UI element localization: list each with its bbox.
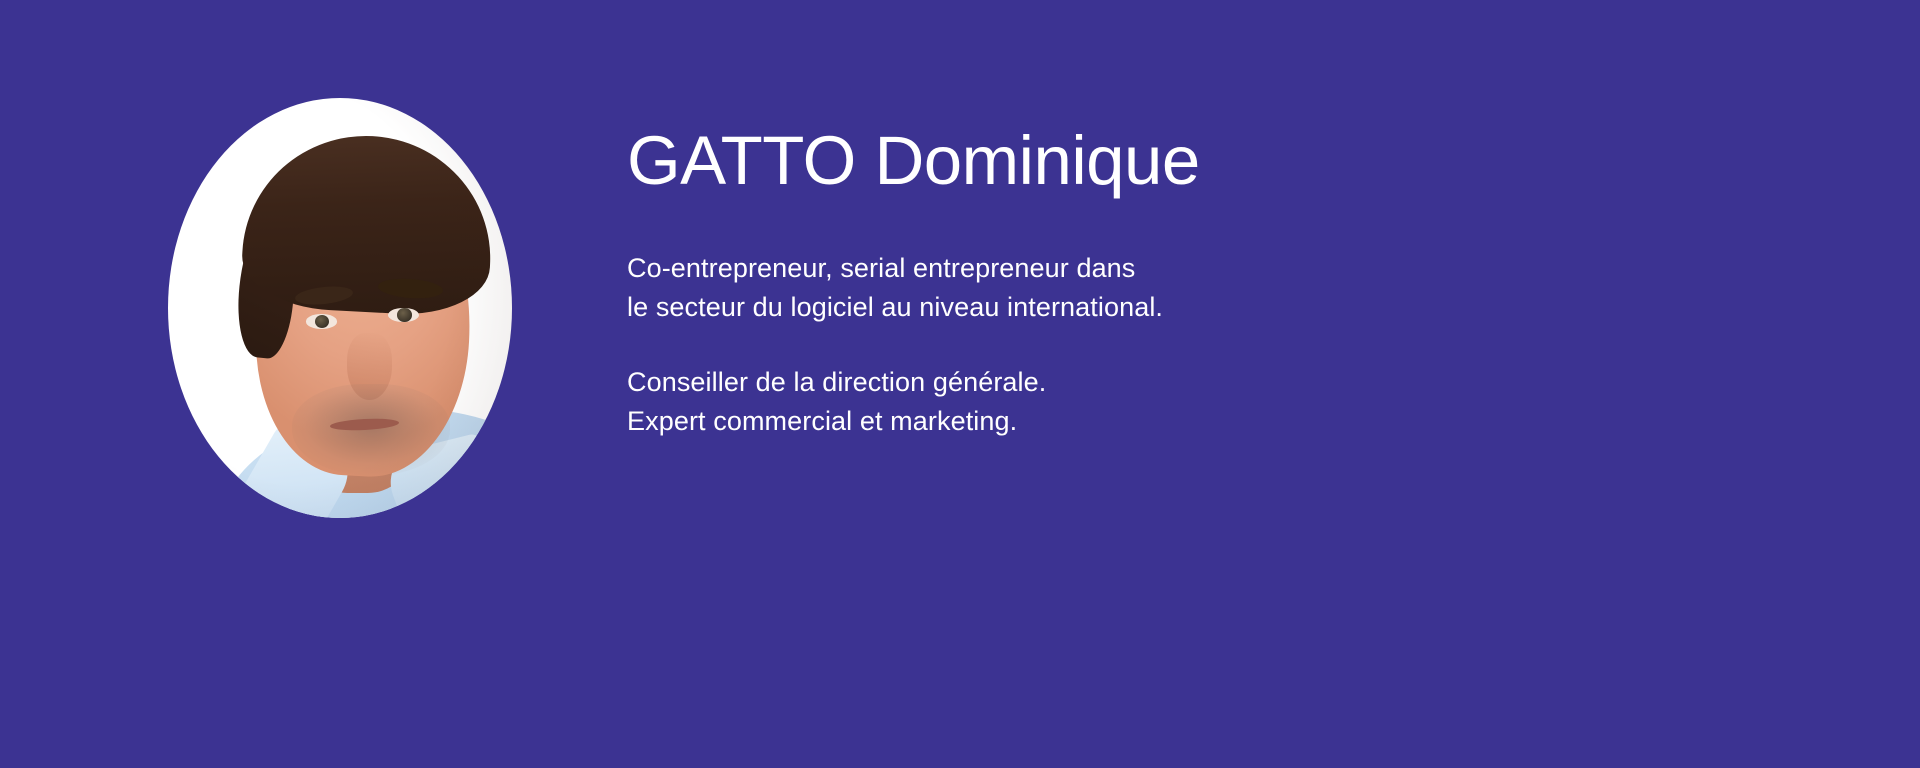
avatar: [168, 98, 512, 518]
avatar-disc: [168, 98, 512, 518]
bio-line: Expert commercial et marketing.: [627, 402, 1627, 441]
bio-paragraph: Conseiller de la direction générale. Exp…: [627, 363, 1627, 441]
bio-line: Conseiller de la direction générale.: [627, 363, 1627, 402]
page-title: GATTO Dominique: [627, 124, 1627, 197]
bio-line: le secteur du logiciel au niveau interna…: [627, 288, 1627, 327]
portrait-photo: [168, 98, 512, 518]
profile-text-column: GATTO Dominique Co-entrepreneur, serial …: [627, 124, 1627, 441]
bio-line: Co-entrepreneur, serial entrepreneur dan…: [627, 249, 1627, 288]
profile-card: GATTO Dominique Co-entrepreneur, serial …: [0, 0, 1920, 768]
portrait-vignette: [168, 98, 512, 518]
bio-block: Co-entrepreneur, serial entrepreneur dan…: [627, 249, 1627, 441]
bio-paragraph: Co-entrepreneur, serial entrepreneur dan…: [627, 249, 1627, 327]
